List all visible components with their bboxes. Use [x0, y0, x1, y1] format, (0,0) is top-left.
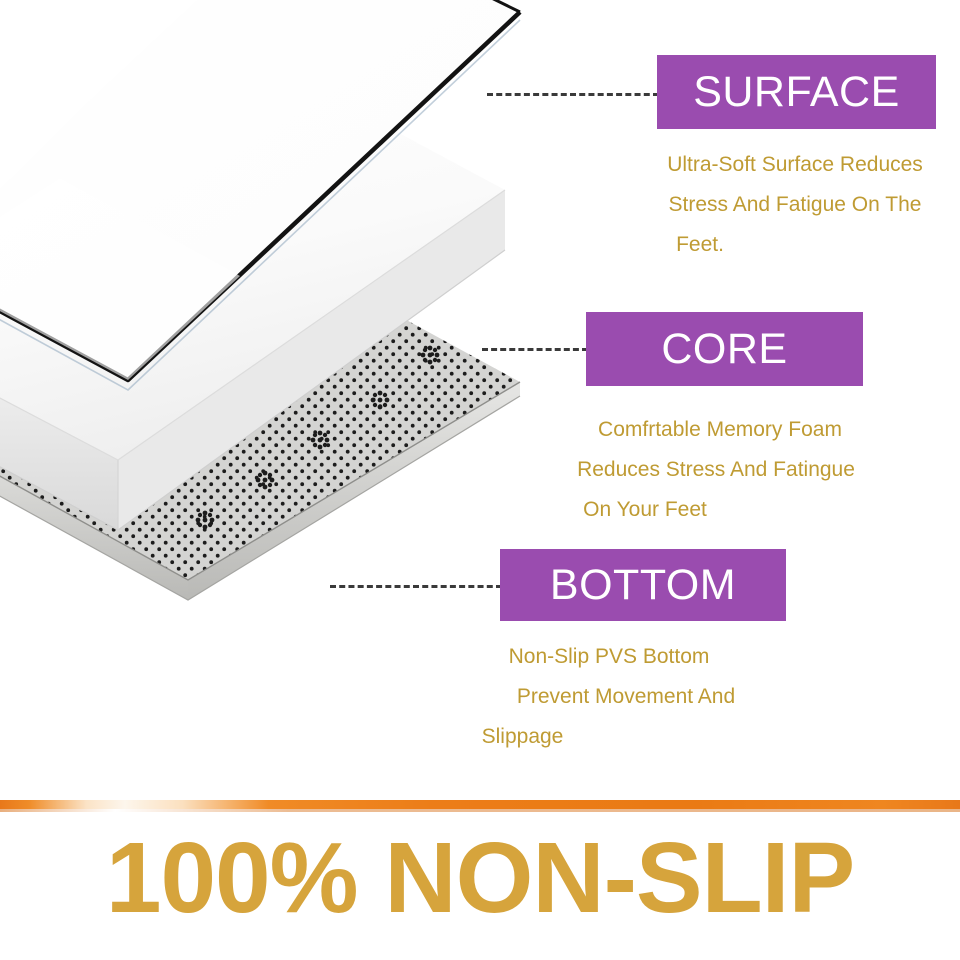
layer-description-bottom: Non-Slip PVS Bottom Prevent Movement And…: [470, 637, 790, 757]
description-line: Ultra-Soft Surface Reduces: [636, 145, 954, 185]
banner-divider-rule: [0, 800, 960, 809]
layer-description-surface: Ultra-Soft Surface Reduces Stress And Fa…: [636, 145, 954, 265]
layer-description-core: Comfrtable Memory Foam Reduces Stress An…: [560, 410, 880, 530]
description-line: Stress And Fatigue On The: [636, 185, 954, 225]
layer-chip-label-core: CORE: [661, 328, 787, 371]
description-line: Non-Slip PVS Bottom: [470, 637, 790, 677]
layer-chip-label-bottom: BOTTOM: [550, 564, 736, 607]
leader-line-surface: [487, 93, 659, 96]
leader-line-bottom: [330, 585, 502, 588]
description-line: Feet.: [636, 225, 954, 265]
description-line: Prevent Movement And: [470, 677, 790, 717]
leader-line-core: [482, 348, 588, 351]
layer-chip-core[interactable]: CORE: [586, 312, 863, 386]
description-line: Reduces Stress And Fatingue: [560, 450, 880, 490]
banner-divider-shadow: [0, 809, 960, 812]
infographic-page: SURFACE Ultra-Soft Surface Reduces Stres…: [0, 0, 960, 960]
description-line: On Your Feet: [560, 490, 880, 530]
banner-headline: 100% NON-SLIP: [0, 818, 960, 938]
layer-chip-surface[interactable]: SURFACE: [657, 55, 936, 129]
description-line: Comfrtable Memory Foam: [560, 410, 880, 450]
layer-chip-label-surface: SURFACE: [693, 71, 900, 114]
layer-chip-bottom[interactable]: BOTTOM: [500, 549, 786, 621]
description-line: Slippage: [470, 717, 790, 757]
